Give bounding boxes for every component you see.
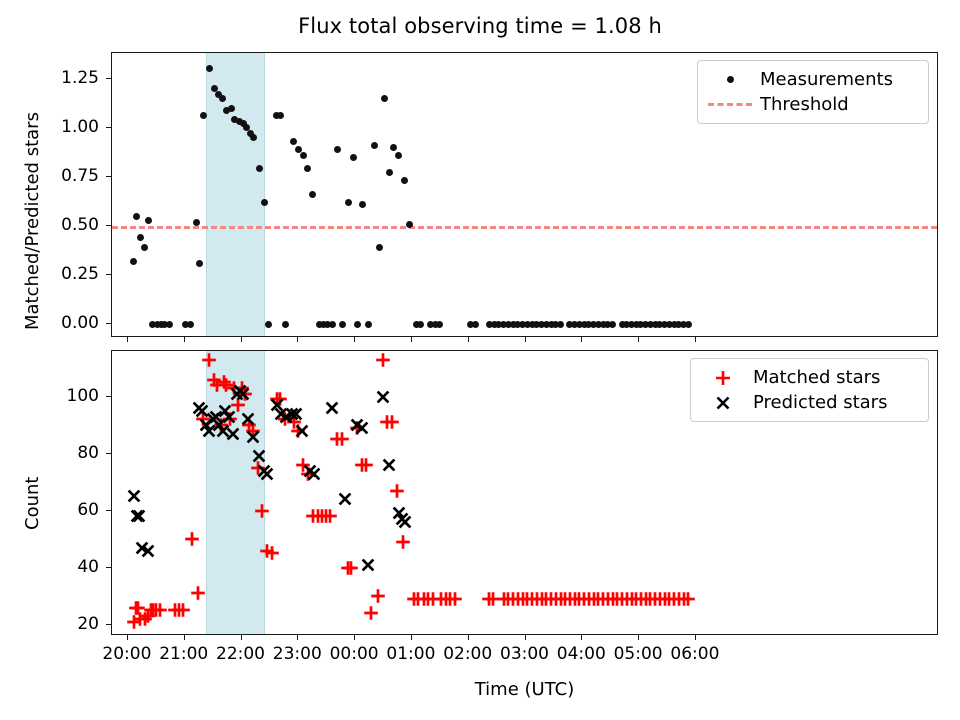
measurement-point	[228, 105, 235, 112]
cross-marker-icon	[699, 394, 747, 412]
measurement-point	[390, 144, 397, 151]
bottom-y-axis-title: Count	[22, 477, 43, 530]
x-tick	[411, 635, 412, 640]
measurement-point	[265, 321, 272, 328]
top-y-tick-label: 1.00	[0, 117, 99, 137]
x-tick-top-panel	[297, 337, 298, 342]
top-y-axis-title: Matched/Predicted stars	[22, 112, 43, 330]
legend-item-measurements[interactable]: Measurements	[706, 67, 918, 92]
legend-label-predicted-stars: Predicted stars	[747, 392, 887, 413]
x-tick	[581, 635, 582, 640]
bottom-y-tick-label: 100	[0, 386, 99, 406]
dot-marker-icon	[706, 76, 754, 83]
measurement-point	[350, 154, 357, 161]
measurement-point	[130, 258, 137, 265]
bottom-y-tick-label: 80	[0, 443, 99, 463]
top-y-tick	[106, 323, 111, 324]
x-tick	[184, 635, 185, 640]
measurement-point	[354, 321, 361, 328]
x-tick-top-panel	[581, 337, 582, 342]
x-tick-label: 00:00	[330, 644, 379, 664]
bottom-y-tick	[106, 453, 111, 454]
measurement-point	[300, 152, 307, 159]
legend-item-predicted-stars[interactable]: Predicted stars	[699, 390, 918, 415]
measurement-point	[376, 244, 383, 251]
x-tick-label: 04:00	[557, 644, 606, 664]
measurement-point	[365, 321, 372, 328]
x-tick-top-panel	[638, 337, 639, 342]
top-y-tick	[106, 127, 111, 128]
measurement-point	[145, 217, 152, 224]
x-tick	[695, 635, 696, 640]
x-tick-label: 03:00	[500, 644, 549, 664]
plus-marker-icon	[699, 369, 747, 387]
measurement-point	[141, 244, 148, 251]
top-y-tick-label: 0.00	[0, 313, 99, 333]
x-tick-top-panel	[241, 337, 242, 342]
x-tick	[525, 635, 526, 640]
x-tick-top-panel	[411, 337, 412, 342]
figure-title: Flux total observing time = 1.08 h	[0, 14, 960, 38]
x-tick-label: 05:00	[614, 644, 663, 664]
top-y-tick	[106, 78, 111, 79]
measurement-point	[282, 321, 289, 328]
measurement-point	[277, 112, 284, 119]
measurement-point	[261, 199, 268, 206]
x-tick-label: 23:00	[273, 644, 322, 664]
measurement-point	[381, 95, 388, 102]
x-tick	[297, 635, 298, 640]
measurement-point	[406, 221, 413, 228]
x-tick-label: 22:00	[216, 644, 265, 664]
measurement-point	[371, 142, 378, 149]
x-tick-top-panel	[695, 337, 696, 342]
x-tick	[468, 635, 469, 640]
measurement-point	[436, 321, 443, 328]
measurement-point	[345, 199, 352, 206]
top-y-tick	[106, 176, 111, 177]
measurement-point	[329, 321, 336, 328]
measurement-point	[304, 165, 311, 172]
threshold-line	[112, 226, 937, 229]
measurement-point	[386, 169, 393, 176]
bottom-y-tick	[106, 567, 111, 568]
measurement-point	[133, 213, 140, 220]
x-tick-label: 06:00	[670, 644, 719, 664]
legend-label-matched-stars: Matched stars	[747, 367, 880, 388]
top-y-tick-label: 1.25	[0, 68, 99, 88]
x-tick	[127, 635, 128, 640]
x-tick-label: 20:00	[102, 644, 151, 664]
bottom-y-tick	[106, 396, 111, 397]
measurement-point	[309, 191, 316, 198]
x-axis-title: Time (UTC)	[111, 679, 938, 700]
measurement-point	[219, 95, 226, 102]
figure-canvas: Flux total observing time = 1.08 h 0.000…	[0, 0, 960, 720]
top-legend: Measurements Threshold	[697, 60, 929, 124]
x-tick	[354, 635, 355, 640]
bottom-y-tick-label: 40	[0, 557, 99, 577]
bottom-y-tick-label: 20	[0, 614, 99, 634]
x-tick-label: 01:00	[386, 644, 435, 664]
measurement-point	[334, 146, 341, 153]
measurement-point	[339, 321, 346, 328]
measurement-point	[193, 219, 200, 226]
measurement-point	[359, 201, 366, 208]
measurement-point	[685, 321, 692, 328]
measurement-point	[290, 138, 297, 145]
legend-item-matched-stars[interactable]: Matched stars	[699, 365, 918, 390]
measurement-point	[206, 65, 213, 72]
measurement-point	[137, 234, 144, 241]
top-y-tick	[106, 274, 111, 275]
top-y-tick	[106, 225, 111, 226]
x-tick-label: 21:00	[159, 644, 208, 664]
x-tick-label: 02:00	[443, 644, 492, 664]
bottom-y-tick	[106, 510, 111, 511]
x-tick-top-panel	[127, 337, 128, 342]
bottom-y-tick	[106, 624, 111, 625]
x-tick	[241, 635, 242, 640]
legend-label-threshold: Threshold	[754, 94, 849, 115]
measurement-point	[417, 321, 424, 328]
measurement-point	[609, 321, 616, 328]
legend-item-threshold[interactable]: Threshold	[706, 92, 918, 117]
bottom-legend: Matched stars Predicted stars	[690, 358, 929, 422]
dashed-line-icon	[706, 103, 754, 106]
measurement-point	[557, 321, 564, 328]
measurement-point	[187, 321, 194, 328]
top-y-tick-label: 0.50	[0, 215, 99, 235]
bottom-y-tick-label: 60	[0, 500, 99, 520]
x-tick-top-panel	[354, 337, 355, 342]
legend-label-measurements: Measurements	[754, 69, 893, 90]
measurement-point	[166, 321, 173, 328]
x-tick-top-panel	[525, 337, 526, 342]
top-y-tick-label: 0.25	[0, 264, 99, 284]
measurement-point	[472, 321, 479, 328]
measurement-point	[196, 260, 203, 267]
top-y-tick-label: 0.75	[0, 166, 99, 186]
measurement-point	[395, 152, 402, 159]
measurement-point	[401, 177, 408, 184]
x-tick-top-panel	[468, 337, 469, 342]
x-tick	[638, 635, 639, 640]
x-tick-top-panel	[184, 337, 185, 342]
